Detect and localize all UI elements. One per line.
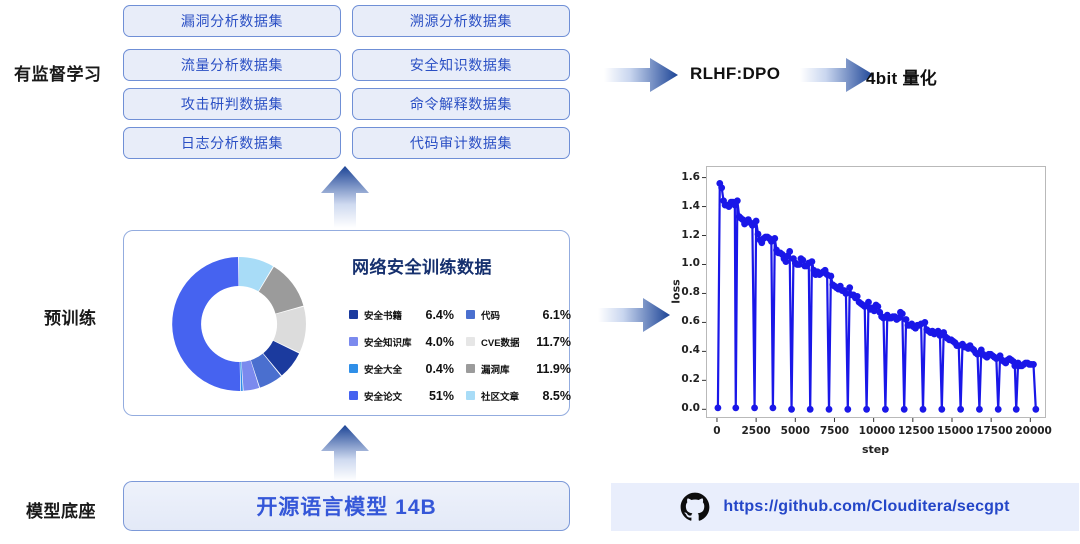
legend-label-code: 代码: [481, 308, 526, 322]
legend-value-security-papers: 51%: [429, 389, 454, 403]
legend-swatch-security-kb: [349, 337, 358, 346]
stage-label-quantization: 4bit 量化: [866, 64, 937, 89]
slice-security-papers: [172, 257, 240, 391]
dataset-box-code-audit[interactable]: 代码审计数据集: [352, 127, 570, 159]
donut-svg: [154, 239, 324, 409]
legend-item-vuln-db: 漏洞库 11.9%: [466, 355, 571, 382]
pie-legend: 安全书籍 6.4% 代码 6.1% 安全知识库 4.0% CVE数据 11.7%…: [349, 301, 571, 409]
dataset-box-traceback-analysis[interactable]: 溯源分析数据集: [352, 5, 570, 37]
legend-value-security-kb: 4.0%: [426, 335, 455, 349]
legend-item-security-kb: 安全知识库 4.0%: [349, 328, 454, 355]
xtick-7: 17500: [976, 425, 1006, 437]
ytick-0: 0.0: [672, 402, 700, 414]
dataset-box-attack-judgement[interactable]: 攻击研判数据集: [123, 88, 341, 120]
xtick-5: 12500: [898, 425, 928, 437]
legend-swatch-security-books: [349, 310, 358, 319]
row-label-pretrain: 预训练: [44, 304, 97, 329]
xtick-8: 20000: [1015, 425, 1045, 437]
arrow-right-to-loss-chart: [598, 298, 670, 332]
legend-label-security-kb: 安全知识库: [364, 335, 409, 349]
legend-swatch-security-compendium: [349, 364, 358, 373]
arrow-up-pretrain-to-supervised: [318, 166, 372, 228]
xtick-2: 5000: [780, 425, 810, 437]
xtick-1: 2500: [741, 425, 771, 437]
xtick-3: 7500: [819, 425, 849, 437]
arrow-right-to-quant: [800, 58, 874, 92]
dataset-box-command-explain[interactable]: 命令解释数据集: [352, 88, 570, 120]
legend-swatch-community-articles: [466, 391, 475, 400]
legend-label-vuln-db: 漏洞库: [481, 362, 526, 376]
legend-value-cve-data: 11.7%: [536, 335, 571, 349]
legend-label-cve-data: CVE数据: [481, 335, 526, 349]
github-icon: [680, 492, 710, 522]
ytick-5: 1.0: [672, 257, 700, 269]
legend-value-vuln-db: 11.9%: [536, 362, 571, 376]
xtick-6: 15000: [937, 425, 967, 437]
training-loss-chart: loss step 025005000750010000125001500017…: [672, 158, 1054, 456]
legend-value-code: 6.1%: [543, 308, 572, 322]
stage-label-rlhf: RLHF:DPO: [690, 64, 780, 84]
legend-swatch-cve-data: [466, 337, 475, 346]
dataset-box-log-analysis[interactable]: 日志分析数据集: [123, 127, 341, 159]
dataset-box-vuln-analysis[interactable]: 漏洞分析数据集: [123, 5, 341, 37]
legend-item-community-articles: 社区文章 8.5%: [466, 382, 571, 409]
row-label-supervised: 有监督学习: [14, 60, 102, 85]
ytick-6: 1.2: [672, 229, 700, 241]
legend-label-security-books: 安全书籍: [364, 308, 409, 322]
legend-item-cve-data: CVE数据 11.7%: [466, 328, 571, 355]
ytick-1: 0.2: [672, 373, 700, 385]
legend-value-community-articles: 8.5%: [543, 389, 572, 403]
row-label-base: 模型底座: [26, 497, 96, 522]
legend-swatch-security-papers: [349, 391, 358, 400]
ytick-8: 1.6: [672, 171, 700, 183]
legend-item-security-books: 安全书籍 6.4%: [349, 301, 454, 328]
legend-swatch-vuln-db: [466, 364, 475, 373]
github-link-bar[interactable]: https://github.com/Clouditera/secgpt: [611, 483, 1079, 531]
base-model-box[interactable]: 开源语言模型 14B: [123, 481, 570, 531]
legend-swatch-code: [466, 310, 475, 319]
legend-label-community-articles: 社区文章: [481, 389, 526, 403]
legend-item-security-papers: 安全论文 51%: [349, 382, 454, 409]
pie-chart-title: 网络安全训练数据: [352, 253, 492, 278]
dataset-box-security-knowledge[interactable]: 安全知识数据集: [352, 49, 570, 81]
legend-item-code: 代码 6.1%: [466, 301, 571, 328]
legend-value-security-compendium: 0.4%: [426, 362, 455, 376]
legend-value-security-books: 6.4%: [426, 308, 455, 322]
legend-label-security-papers: 安全论文: [364, 389, 409, 403]
ytick-2: 0.4: [672, 344, 700, 356]
arrow-right-to-rlhf: [604, 58, 678, 92]
xtick-0: 0: [702, 425, 732, 437]
loss-line-svg: [672, 158, 1054, 456]
github-url[interactable]: https://github.com/Clouditera/secgpt: [723, 498, 1009, 516]
ytick-4: 0.8: [672, 286, 700, 298]
ytick-3: 0.6: [672, 315, 700, 327]
legend-label-security-compendium: 安全大全: [364, 362, 409, 376]
dataset-box-traffic-analysis[interactable]: 流量分析数据集: [123, 49, 341, 81]
arrow-up-base-to-pretrain: [318, 425, 372, 481]
donut-chart: [154, 239, 324, 409]
xtick-4: 10000: [859, 425, 889, 437]
ytick-7: 1.4: [672, 200, 700, 212]
legend-item-security-compendium: 安全大全 0.4%: [349, 355, 454, 382]
loss-xlabel: step: [862, 443, 889, 456]
training-data-card: 网络安全训练数据 安全书籍 6.4% 代码 6.1% 安全知识库 4.0% CV…: [123, 230, 570, 416]
